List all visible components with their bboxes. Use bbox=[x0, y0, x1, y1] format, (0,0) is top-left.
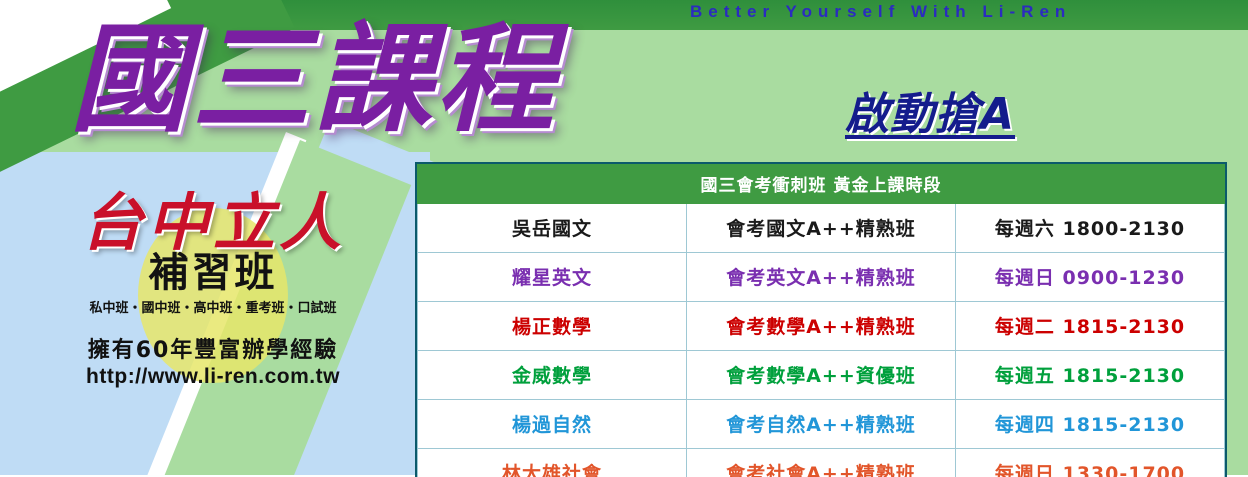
table-row: 吳岳國文會考國文A++精熟班每週六 1800-2130 bbox=[418, 204, 1225, 253]
table-cell-time: 每週日 1330-1700 bbox=[956, 449, 1225, 477]
table-cell-course: 會考英文A++精熟班 bbox=[687, 253, 956, 302]
table-cell-teacher: 金威數學 bbox=[418, 351, 687, 400]
table-cell-teacher: 耀星英文 bbox=[418, 253, 687, 302]
logo-website-url[interactable]: http://www.li-ren.com.tw bbox=[18, 365, 408, 389]
logo-type: 補習班 bbox=[18, 251, 408, 295]
table-body: 吳岳國文會考國文A++精熟班每週六 1800-2130耀星英文會考英文A++精熟… bbox=[418, 204, 1225, 477]
page-subtitle: 啟動搶A bbox=[845, 78, 1015, 142]
logo-name: 台中立人 bbox=[18, 190, 408, 255]
table-cell-teacher: 吳岳國文 bbox=[418, 204, 687, 253]
table-cell-teacher: 楊過自然 bbox=[418, 400, 687, 449]
table-cell-teacher: 楊正數學 bbox=[418, 302, 687, 351]
table-cell-course: 會考自然A++精熟班 bbox=[687, 400, 956, 449]
table-row: 金威數學會考數學A++資優班每週五 1815-2130 bbox=[418, 351, 1225, 400]
logo-block: 台中立人 補習班 私中班・國中班・高中班・重考班・口試班 擁有60年豐富辦學經驗… bbox=[18, 190, 408, 389]
table-cell-course: 會考數學A++資優班 bbox=[687, 351, 956, 400]
table-cell-course: 會考社會A++精熟班 bbox=[687, 449, 956, 477]
table-cell-time: 每週五 1815-2130 bbox=[956, 351, 1225, 400]
table-row: 林大雄社會會考社會A++精熟班每週日 1330-1700 bbox=[418, 449, 1225, 477]
poster-root: Better Yourself With Li-Ren 國三課程 啟動搶A 台中… bbox=[0, 0, 1248, 477]
logo-class-list: 私中班・國中班・高中班・重考班・口試班 bbox=[18, 297, 408, 316]
table-cell-time: 每週四 1815-2130 bbox=[956, 400, 1225, 449]
table-header-title: 國三會考衝刺班 黃金上課時段 bbox=[418, 165, 1225, 204]
table-cell-teacher: 林大雄社會 bbox=[418, 449, 687, 477]
table-row: 楊正數學會考數學A++精熟班每週二 1815-2130 bbox=[418, 302, 1225, 351]
table-row: 耀星英文會考英文A++精熟班每週日 0900-1230 bbox=[418, 253, 1225, 302]
table-cell-course: 會考數學A++精熟班 bbox=[687, 302, 956, 351]
slogan-text: Better Yourself With Li-Ren bbox=[690, 2, 1071, 22]
page-title: 國三課程 bbox=[70, 20, 558, 138]
table-header-row: 國三會考衝刺班 黃金上課時段 bbox=[418, 165, 1225, 204]
logo-experience: 擁有60年豐富辦學經驗 bbox=[18, 332, 408, 364]
table-cell-time: 每週日 0900-1230 bbox=[956, 253, 1225, 302]
table-row: 楊過自然會考自然A++精熟班每週四 1815-2130 bbox=[418, 400, 1225, 449]
table-cell-time: 每週六 1800-2130 bbox=[956, 204, 1225, 253]
schedule-table-container: 國三會考衝刺班 黃金上課時段 吳岳國文會考國文A++精熟班每週六 1800-21… bbox=[415, 162, 1227, 477]
schedule-table: 國三會考衝刺班 黃金上課時段 吳岳國文會考國文A++精熟班每週六 1800-21… bbox=[417, 164, 1225, 477]
table-cell-time: 每週二 1815-2130 bbox=[956, 302, 1225, 351]
table-cell-course: 會考國文A++精熟班 bbox=[687, 204, 956, 253]
